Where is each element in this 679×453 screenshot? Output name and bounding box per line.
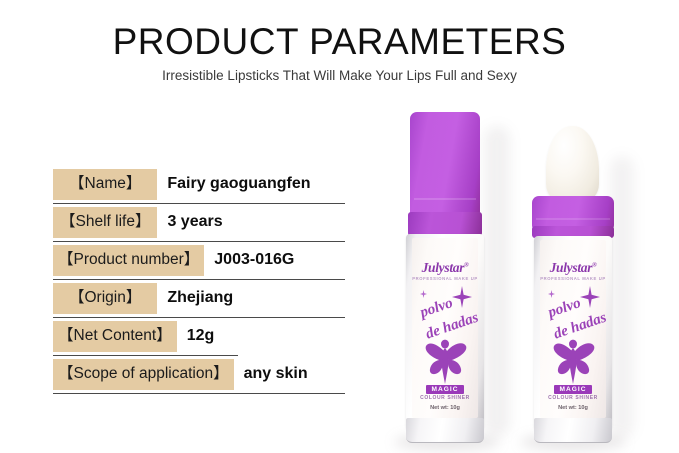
spec-label-name: 【Name】 <box>53 169 157 200</box>
page-title: PRODUCT PARAMETERS <box>0 20 679 64</box>
spec-value-net-content: 12g <box>187 327 215 345</box>
closed-bottle: Julystar® PROFESSIONAL MAKE UP polvo de … <box>388 108 506 453</box>
spec-label-origin: 【Origin】 <box>53 283 157 314</box>
spec-value-shelf-life: 3 years <box>167 213 222 231</box>
bottle-label-surface: Julystar® PROFESSIONAL MAKE UP polvo de … <box>540 240 606 418</box>
spec-row-origin: 【Origin】 Zhejiang <box>53 280 345 318</box>
small-sparkle-icon <box>548 290 555 298</box>
product-parameters-page: PRODUCT PARAMETERS Irresistible Lipstick… <box>0 0 679 453</box>
bottle-body: Julystar® PROFESSIONAL MAKE UP polvo de … <box>534 236 612 432</box>
spec-row-net-content: 【Net Content】 12g <box>53 318 345 356</box>
colour-shiner-text: COLOUR SHINER <box>412 395 478 401</box>
spec-label-scope-of-application: 【Scope of application】 <box>53 359 234 390</box>
net-weight-text: Net wt: 10g <box>412 405 478 411</box>
brand-tagline: PROFESSIONAL MAKE UP <box>412 276 478 281</box>
fairy-icon <box>553 338 595 386</box>
spec-value-scope-of-application: any skin <box>244 365 308 383</box>
spec-row-scope-of-application: 【Scope of application】 any skin <box>53 356 345 394</box>
spec-label-product-number: 【Product number】 <box>53 245 204 276</box>
spec-divider <box>53 393 345 394</box>
bottle-label-surface: Julystar® PROFESSIONAL MAKE UP polvo de … <box>412 238 478 418</box>
spec-row-product-number: 【Product number】 J003-016G <box>53 242 345 280</box>
page-subtitle: Irresistible Lipsticks That Will Make Yo… <box>0 67 679 85</box>
bottle-side-shadow <box>610 156 634 438</box>
page-header: PRODUCT PARAMETERS Irresistible Lipstick… <box>0 20 679 85</box>
applicator-sponge <box>546 126 599 202</box>
spec-value-name: Fairy gaoguangfen <box>167 175 310 193</box>
magic-badge: MAGIC <box>426 385 464 394</box>
spec-value-product-number: J003-016G <box>214 251 294 269</box>
bottle-cap-collar <box>408 212 482 236</box>
sparkle-icon <box>452 286 472 308</box>
brand-name: Julystar® <box>540 260 606 276</box>
net-weight-text: Net wt: 10g <box>540 405 606 411</box>
spec-value-origin: Zhejiang <box>167 289 233 307</box>
spec-label-shelf-life: 【Shelf life】 <box>53 207 157 238</box>
bottle-cap <box>410 112 480 216</box>
brand-name: Julystar® <box>412 260 478 276</box>
fairy-icon <box>425 338 467 386</box>
small-sparkle-icon <box>420 290 427 298</box>
bottle-base <box>534 418 612 443</box>
spec-label-net-content: 【Net Content】 <box>53 321 177 352</box>
magic-badge: MAGIC <box>554 385 592 394</box>
brand-tagline: PROFESSIONAL MAKE UP <box>540 276 606 281</box>
spec-row-name: 【Name】 Fairy gaoguangfen <box>53 166 345 204</box>
specification-list: 【Name】 Fairy gaoguangfen 【Shelf life】 3 … <box>53 166 345 394</box>
open-bottle: Julystar® PROFESSIONAL MAKE UP polvo de … <box>506 108 636 453</box>
bottle-body: Julystar® PROFESSIONAL MAKE UP polvo de … <box>406 234 484 432</box>
product-images: Julystar® PROFESSIONAL MAKE UP polvo de … <box>388 108 666 453</box>
colour-shiner-text: COLOUR SHINER <box>540 395 606 401</box>
sparkle-icon <box>580 286 600 308</box>
bottle-base <box>406 418 484 443</box>
spec-row-shelf-life: 【Shelf life】 3 years <box>53 204 345 242</box>
